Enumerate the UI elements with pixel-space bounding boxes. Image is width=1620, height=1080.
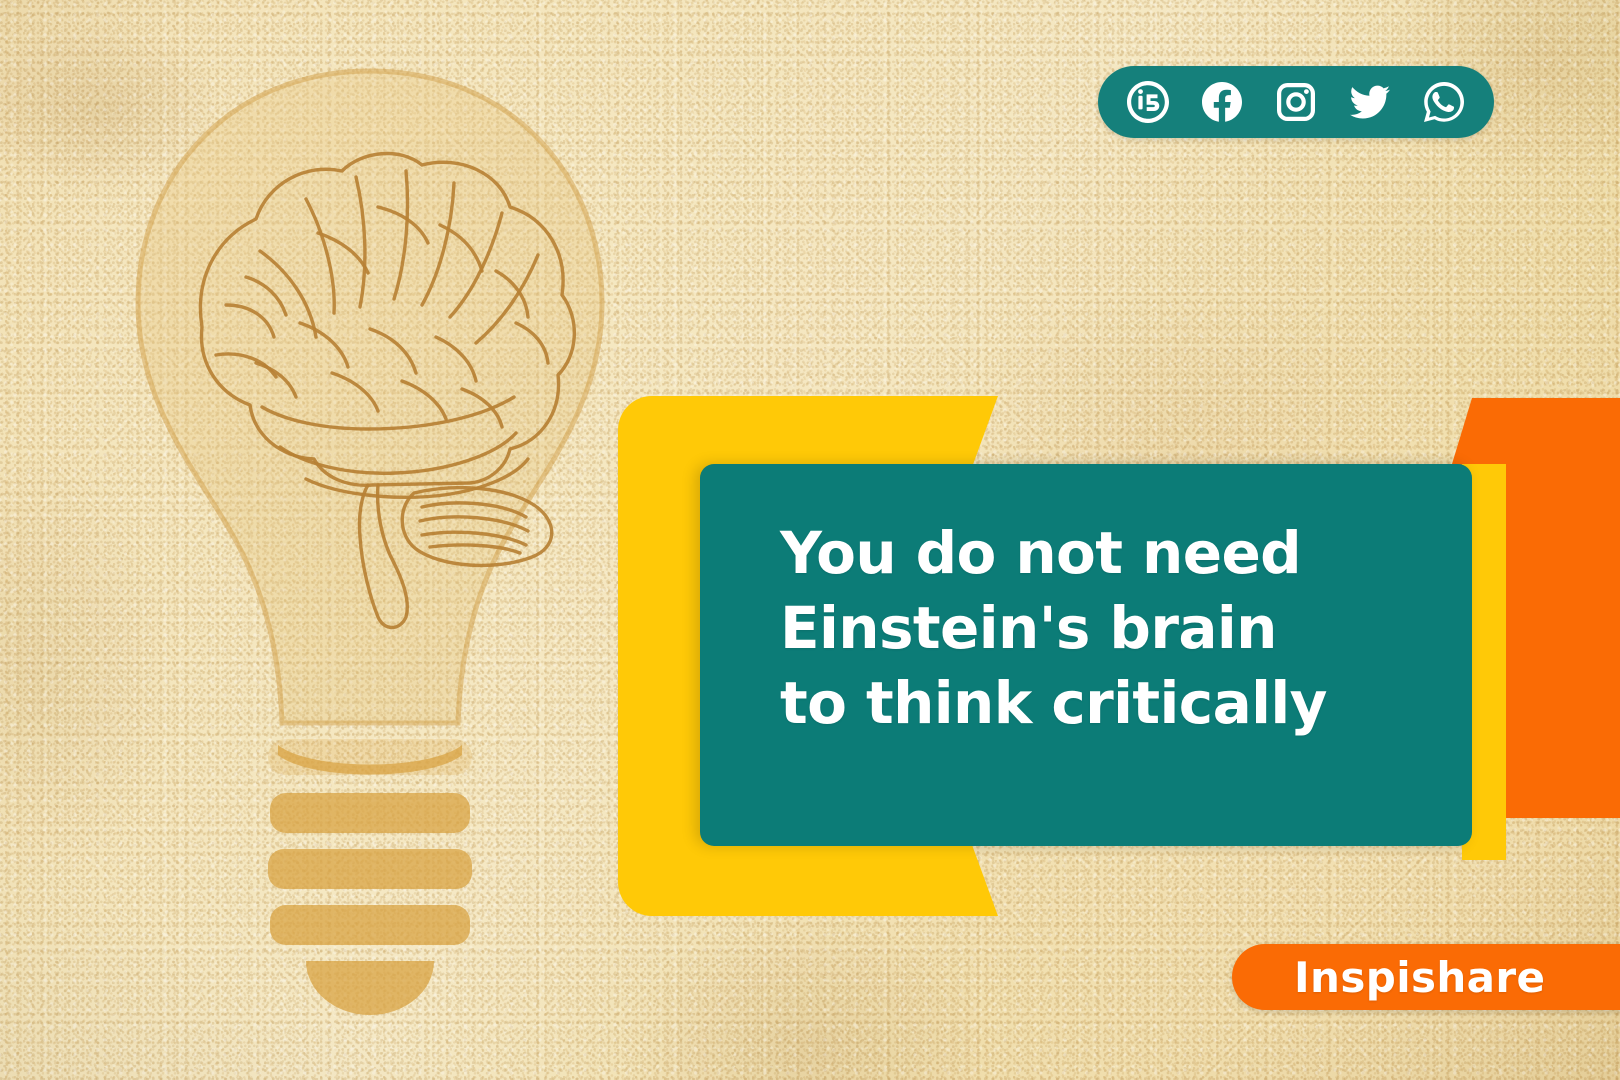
social-media-bar [1098,66,1494,138]
brand-name: Inspishare [1294,953,1545,1002]
bulb-screw-base [268,739,472,1015]
instagram-icon[interactable] [1272,78,1320,126]
brand-badge[interactable]: Inspishare [1232,944,1620,1010]
twitter-icon[interactable] [1346,78,1394,126]
quote-card: You do not need Einstein's brain to thin… [700,464,1472,846]
whatsapp-icon[interactable] [1420,78,1468,126]
lightbulb-with-brain-illustration [110,55,630,1015]
facebook-icon[interactable] [1198,78,1246,126]
i5-logo-icon[interactable] [1124,78,1172,126]
quote-text: You do not need Einstein's brain to thin… [780,516,1432,740]
quote-poster: You do not need Einstein's brain to thin… [0,0,1620,1080]
